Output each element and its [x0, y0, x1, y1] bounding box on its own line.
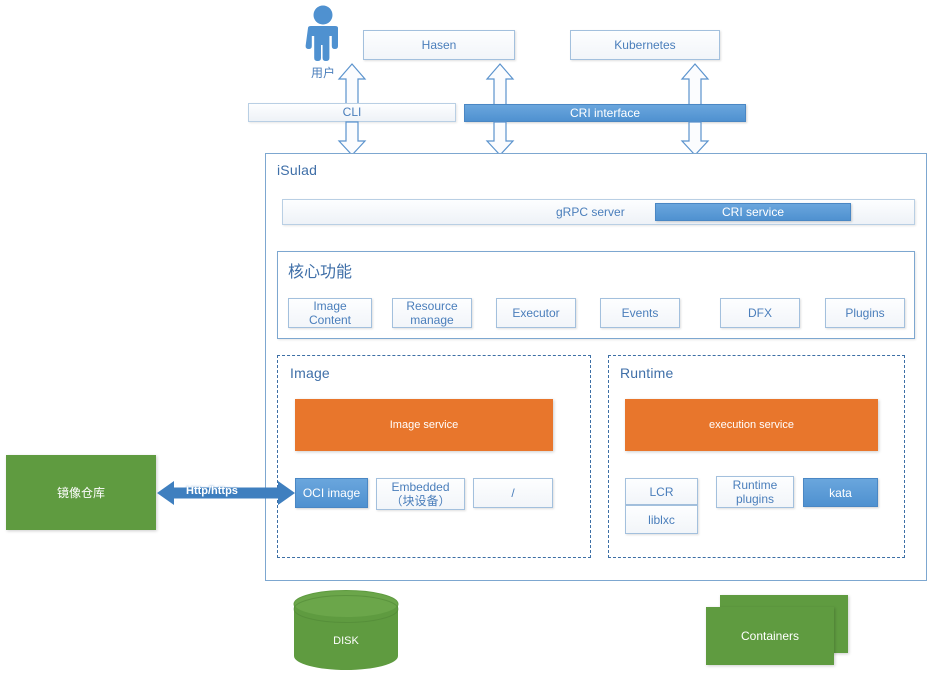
liblxc-box[interactable]: liblxc: [625, 505, 698, 534]
embedded-line1: Embedded: [390, 480, 450, 494]
image-section-title: Image: [290, 365, 330, 381]
embedded-line2: （块设备）: [390, 494, 450, 508]
hasen-box[interactable]: Hasen: [363, 30, 515, 60]
execution-service-box[interactable]: execution service: [625, 399, 878, 451]
core-module-dfx[interactable]: DFX: [720, 298, 800, 328]
disk-label: DISK: [292, 635, 400, 647]
kata-box[interactable]: kata: [803, 478, 878, 507]
embedded-box[interactable]: Embedded （块设备）: [376, 478, 465, 510]
cri-interface-bar[interactable]: CRI interface: [464, 104, 746, 122]
runtime-plugins-line2: plugins: [733, 492, 778, 506]
disk-cylinder: [292, 590, 400, 670]
user-figure: [295, 4, 351, 62]
disk-icon: [292, 590, 400, 670]
cli-label: CLI: [248, 105, 456, 119]
core-module-plugins[interactable]: Plugins: [825, 298, 905, 328]
core-module-resource-manage[interactable]: Resource manage: [392, 298, 472, 328]
person-icon: [295, 4, 351, 62]
arrow-cli-down: [334, 122, 370, 156]
arrow-cri-down-left: [482, 122, 518, 156]
runtime-section-title: Runtime: [620, 365, 674, 381]
runtime-plugins-line1: Runtime: [733, 478, 778, 492]
http-https-label: Http/https: [186, 485, 238, 497]
containers-box-front[interactable]: Containers: [706, 607, 834, 665]
core-module-line2: manage: [406, 313, 457, 327]
lcr-box[interactable]: LCR: [625, 478, 698, 505]
kubernetes-box[interactable]: Kubernetes: [570, 30, 720, 60]
core-module-image-content[interactable]: Image Content: [288, 298, 372, 328]
core-module-executor[interactable]: Executor: [496, 298, 576, 328]
image-section-panel: [277, 355, 591, 558]
isulad-title: iSulad: [277, 162, 317, 178]
image-registry-box[interactable]: 镜像仓库: [6, 455, 156, 530]
arrow-hasen-up: [482, 62, 518, 108]
cri-service-box[interactable]: CRI service: [655, 203, 851, 221]
image-slash-box[interactable]: /: [473, 478, 553, 508]
arrow-kubernetes-up: [677, 62, 713, 108]
core-function-title: 核心功能: [288, 258, 352, 282]
grpc-server-label: gRPC server: [556, 205, 625, 219]
diagram-canvas: 用户 Hasen Kubernetes CLI CRI interface iS…: [0, 0, 939, 673]
core-module-events[interactable]: Events: [600, 298, 680, 328]
arrow-user-up: [334, 62, 370, 108]
oci-image-box[interactable]: OCI image: [295, 478, 368, 508]
core-module-line1: Image: [309, 299, 351, 313]
runtime-plugins-box[interactable]: Runtime plugins: [716, 476, 794, 508]
core-function-panel: [277, 251, 915, 339]
arrow-cri-down-right: [677, 122, 713, 156]
core-module-line2: Content: [309, 313, 351, 327]
image-service-box[interactable]: Image service: [295, 399, 553, 451]
core-module-line1: Resource: [406, 299, 457, 313]
